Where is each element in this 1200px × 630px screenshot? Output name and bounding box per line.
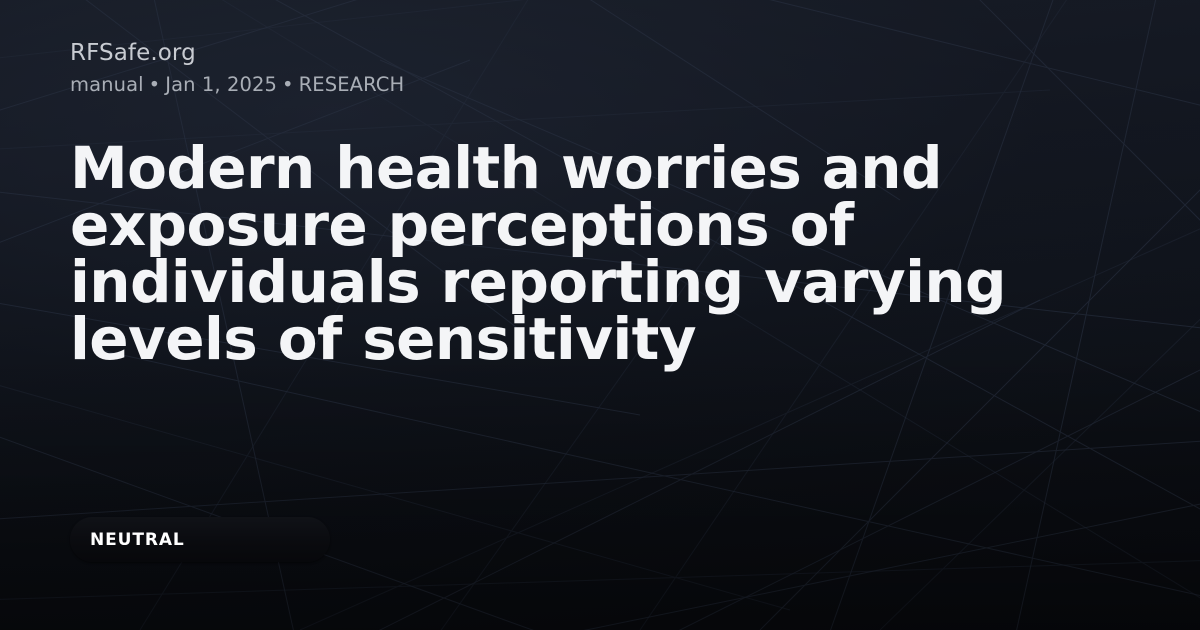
meta-line: manual•Jan 1, 2025•RESEARCH (70, 72, 1130, 98)
meta-source: manual (70, 73, 144, 96)
site-name: RFSafe.org (70, 38, 1130, 68)
meta-separator-2: • (277, 73, 299, 96)
meta-separator-1: • (144, 73, 166, 96)
content-spacer (70, 407, 1130, 517)
page-title: Modern health worries and exposure perce… (70, 140, 1055, 368)
status-badge: NEUTRAL (70, 517, 330, 562)
card-content: RFSafe.org manual•Jan 1, 2025•RESEARCH M… (0, 0, 1200, 630)
meta-date: Jan 1, 2025 (165, 73, 277, 96)
social-share-card: RFSafe.org manual•Jan 1, 2025•RESEARCH M… (0, 0, 1200, 630)
meta-category: RESEARCH (299, 73, 405, 96)
badge-row: NEUTRAL (70, 517, 1130, 562)
status-badge-label: NEUTRAL (90, 530, 185, 550)
